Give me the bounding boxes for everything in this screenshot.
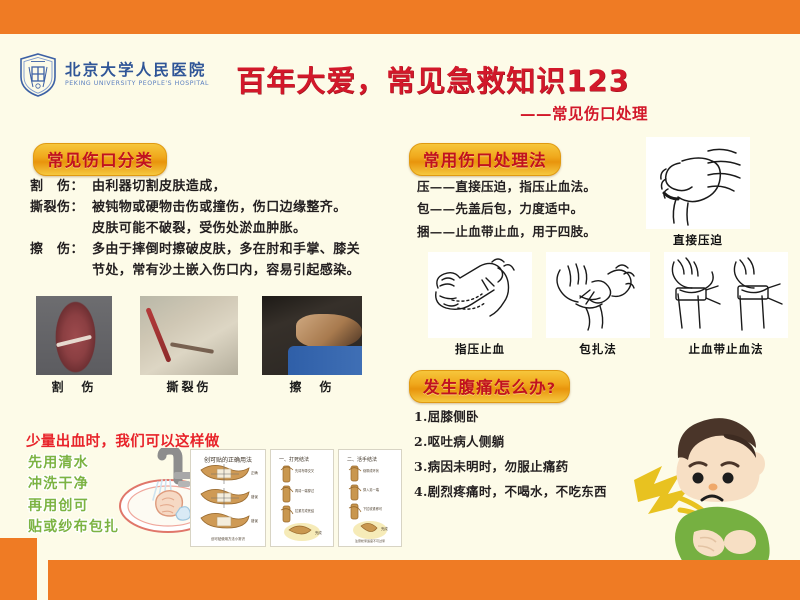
method-line: 压——直接压迫，指压止血法。 [417, 176, 647, 198]
svg-text:创可贴的正确用法: 创可贴的正确用法 [204, 456, 252, 464]
wound-photo-caption: 撕裂伤 [140, 378, 238, 395]
page-subtitle: ——常见伤口处理 [218, 102, 648, 124]
heading-classification-label: 常见伤口分类 [33, 143, 167, 176]
svg-text:穿入另一端: 穿入另一端 [363, 487, 380, 492]
bleeding-step: 冲洗干净 [28, 474, 119, 495]
poster-root: 北京大学人民医院 PEKING UNIVERSITY PEOPLE'S HOSP… [0, 0, 800, 600]
svg-text:拉紧打成死结: 拉紧打成死结 [295, 508, 314, 513]
classification-definition: 多由于摔倒时擦破皮肤，多在肘和手掌、膝关 [92, 239, 360, 260]
illustration-tourniquet: 止血带止血法 [664, 252, 788, 357]
svg-text:创可贴使用方法小常识: 创可贴使用方法小常识 [211, 536, 246, 541]
wound-photo-row: 割 伤 撕裂伤 擦 伤 [36, 296, 392, 408]
single-knot-panel-icon: 一、打死结法 先将布带交叉 再将一端穿过 拉紧打成死结 完成 [270, 449, 334, 547]
bleeding-step: 再用创可 [28, 496, 119, 517]
svg-text:下拉收紧即可: 下拉收紧即可 [363, 506, 383, 511]
bandage-instruction-panels: 创可贴的正确用法 ­正确­错误­错误 创可贴使用方法小常识 [190, 449, 402, 547]
illustration-caption: 直接压迫 [646, 232, 750, 248]
classification-definition: 被钝物或硬物击伤或撞伤，伤口边缘整齐。 [92, 197, 347, 218]
illustration-direct-pressure: 直接压迫 [646, 137, 750, 248]
wound-photo-caption: 擦 伤 [262, 378, 362, 395]
method-line: 包——先盖后包，力度适中。 [417, 198, 647, 220]
classification-row: 撕裂伤： 被钝物或硬物击伤或撞伤，伤口边缘整齐。 [30, 197, 390, 218]
heading-abdominal-question-mark: ? [547, 381, 556, 397]
top-orange-bar [0, 0, 800, 34]
classification-term: 擦 伤： [30, 239, 92, 260]
svg-text:先将布带交叉: 先将布带交叉 [295, 468, 315, 473]
heading-abdominal-pain: 发生腹痛怎么办? [409, 370, 570, 403]
cut-wound-image [36, 296, 112, 375]
method-line: 捆——止血带止血，用于四肢。 [417, 221, 647, 243]
heading-abdominal-label: 发生腹痛怎么办 [423, 378, 547, 397]
svg-text:一、打死结法: 一、打死结法 [279, 456, 309, 463]
abrasion-wound-image [262, 296, 362, 375]
hospital-logo: 北京大学人民医院 PEKING UNIVERSITY PEOPLE'S HOSP… [18, 52, 209, 98]
illustration-caption: 包扎法 [546, 341, 650, 357]
wound-photo-caption: 割 伤 [36, 378, 112, 395]
hospital-name-cn: 北京大学人民医院 [65, 63, 209, 79]
svg-text:再将一端穿过: 再将一端穿过 [295, 488, 315, 493]
illustration-bandaging: 包扎法 [546, 252, 650, 357]
bandaid-usage-panel-icon: 创可贴的正确用法 ­正确­错误­错误 创可贴使用方法小常识 [190, 449, 266, 547]
svg-text:绕带成环状: 绕带成环状 [363, 468, 380, 473]
svg-text:二、活手结法: 二、活手结法 [347, 456, 377, 463]
laceration-wound-image [140, 296, 238, 375]
illustration-finger-pressure: 指压止血 [428, 252, 532, 357]
double-knot-panel-icon: 二、活手结法 绕带成环状 穿入另一端 下拉收紧即可 完成 注意松紧适度不可过紧 [338, 449, 402, 547]
classification-continuation: 节处，常有沙土嵌入伤口内，容易引起感染。 [30, 260, 390, 281]
tourniquet-icon [664, 252, 788, 338]
wound-photo-abrasion: 擦 伤 [262, 296, 362, 395]
bottom-orange-bar [48, 560, 800, 600]
shield-crest-icon [18, 52, 58, 98]
svg-text:­正确: ­正确 [251, 470, 258, 475]
svg-text:­错误: ­错误 [251, 494, 258, 499]
svg-text:完成: 完成 [315, 530, 322, 535]
methods-body: 压——直接压迫，指压止血法。 包——先盖后包，力度适中。 捆——止血带止血，用于… [417, 176, 647, 243]
classification-row: 割 伤： 由利器切割皮肤造成， [30, 176, 390, 197]
illustration-caption: 止血带止血法 [664, 341, 788, 357]
heading-classification: 常见伤口分类 [33, 143, 167, 176]
bleeding-step: 贴或纱布包扎 [28, 517, 119, 538]
page-title: 百年大爱，常见急救知识123 [218, 58, 648, 100]
classification-continuation: 皮肤可能不破裂，受伤处淤血肿胀。 [30, 218, 390, 239]
svg-text:注意松紧适度不可过紧: 注意松紧适度不可过紧 [355, 538, 385, 543]
minor-bleeding-steps: 先用清水 冲洗干净 再用创可 贴或纱布包扎 [28, 453, 119, 538]
svg-text:­错误: ­错误 [251, 518, 258, 523]
left-orange-block [0, 538, 37, 600]
classification-term: 撕裂伤： [30, 197, 92, 218]
wound-photo-laceration: 撕裂伤 [140, 296, 238, 395]
heading-methods: 常用伤口处理法 [409, 143, 561, 176]
illustration-caption: 指压止血 [428, 341, 532, 357]
classification-term: 割 伤： [30, 176, 92, 197]
bleeding-step: 先用清水 [28, 453, 119, 474]
heading-methods-label: 常用伤口处理法 [409, 143, 561, 176]
bandaging-icon [546, 252, 650, 338]
svg-text:完成: 完成 [381, 526, 388, 531]
stomach-ache-boy-icon [628, 392, 796, 560]
hospital-name-en: PEKING UNIVERSITY PEOPLE'S HOSPITAL [65, 81, 209, 87]
classification-definition: 由利器切割皮肤造成， [92, 176, 226, 197]
finger-pressure-icon [428, 252, 532, 338]
classification-body: 割 伤： 由利器切割皮肤造成， 撕裂伤： 被钝物或硬物击伤或撞伤，伤口边缘整齐。… [30, 176, 390, 281]
classification-row: 擦 伤： 多由于摔倒时擦破皮肤，多在肘和手掌、膝关 [30, 239, 390, 260]
direct-pressure-icon [646, 137, 750, 229]
wound-photo-cut: 割 伤 [36, 296, 112, 395]
